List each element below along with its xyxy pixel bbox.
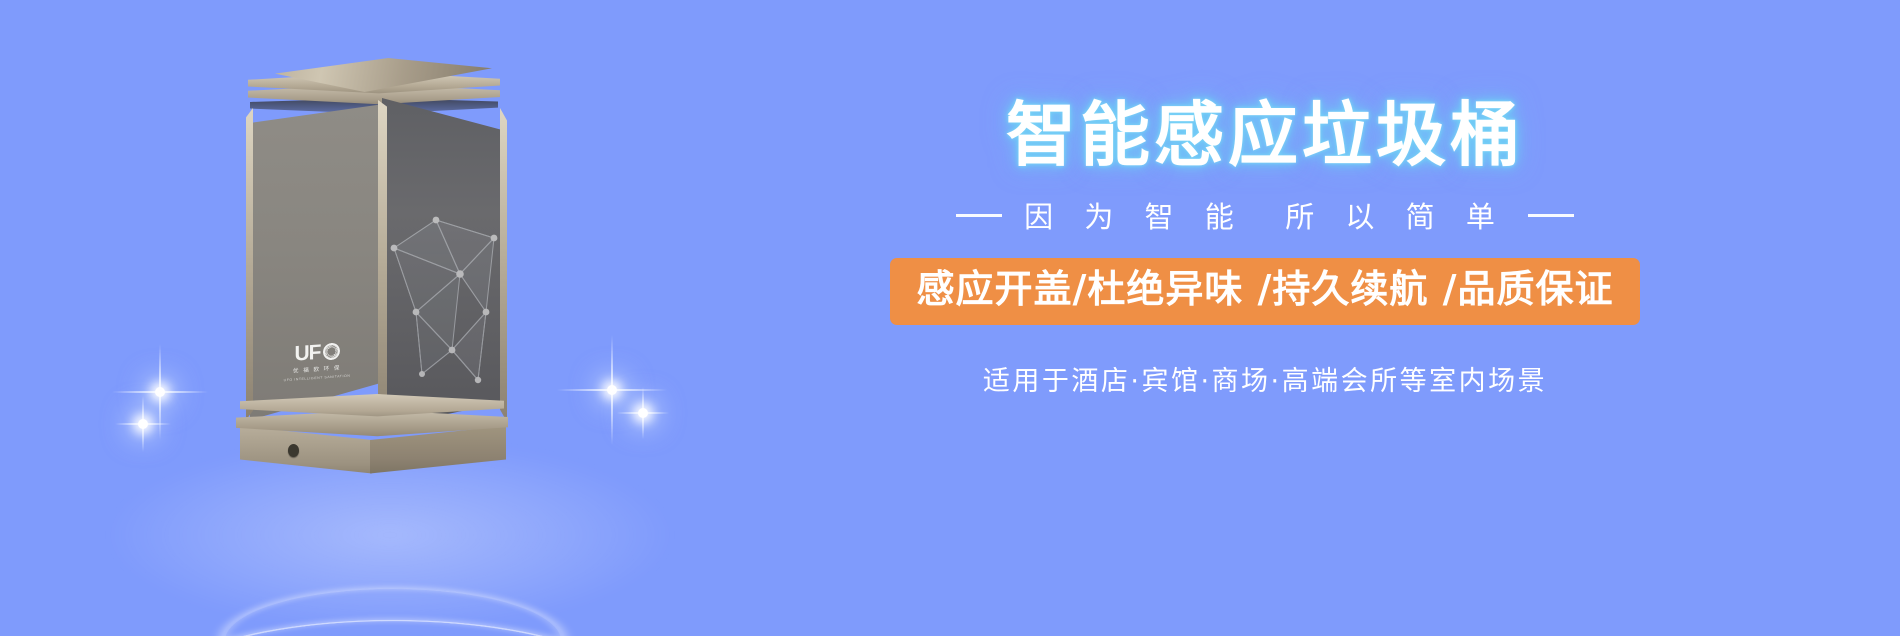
smart-trash-bin: UF 优 福 欧 环 保 UFO INTELLIGENT SANITATION xyxy=(232,52,512,452)
sensor-eye-icon xyxy=(288,444,299,457)
bin-lid xyxy=(238,58,506,104)
ufo-brand-logo: UF 优 福 欧 环 保 UFO INTELLIGENT SANITATION xyxy=(278,339,356,400)
logo-wordmark-row: UF xyxy=(278,339,356,365)
usage-scene-text: 适用于酒店·宾馆·商场·高端会所等室内场景 xyxy=(700,359,1830,398)
logo-o-ring-icon xyxy=(323,342,340,360)
subline-text: 因 为 智 能 所 以 简 单 xyxy=(1024,194,1506,236)
low-poly-pattern-icon xyxy=(382,98,506,428)
dash-right-icon xyxy=(1528,214,1574,217)
bin-face-right xyxy=(382,98,506,428)
headline-title: 智能感应垃圾桶 xyxy=(700,96,1830,174)
logo-letters: UF xyxy=(295,342,321,365)
bin-base-plinth xyxy=(234,394,510,478)
feature-highlight-text: 感应开盖/杜绝异味 /持久续航 /品质保证 xyxy=(916,267,1613,311)
product-promo-banner: UF 优 福 欧 环 保 UFO INTELLIGENT SANITATION … xyxy=(0,0,1900,636)
bin-edge-center xyxy=(378,100,387,430)
copy-block: 智能感应垃圾桶 因 为 智 能 所 以 简 单 感应开盖/杜绝异味 /持久续航 … xyxy=(700,96,1830,516)
bin-edge-right xyxy=(500,108,507,422)
dash-left-icon xyxy=(956,214,1002,217)
bin-edge-left xyxy=(246,108,253,420)
subline-row: 因 为 智 能 所 以 简 单 xyxy=(700,194,1830,236)
feature-highlight-bar: 感应开盖/杜绝异味 /持久续航 /品质保证 xyxy=(890,258,1639,325)
